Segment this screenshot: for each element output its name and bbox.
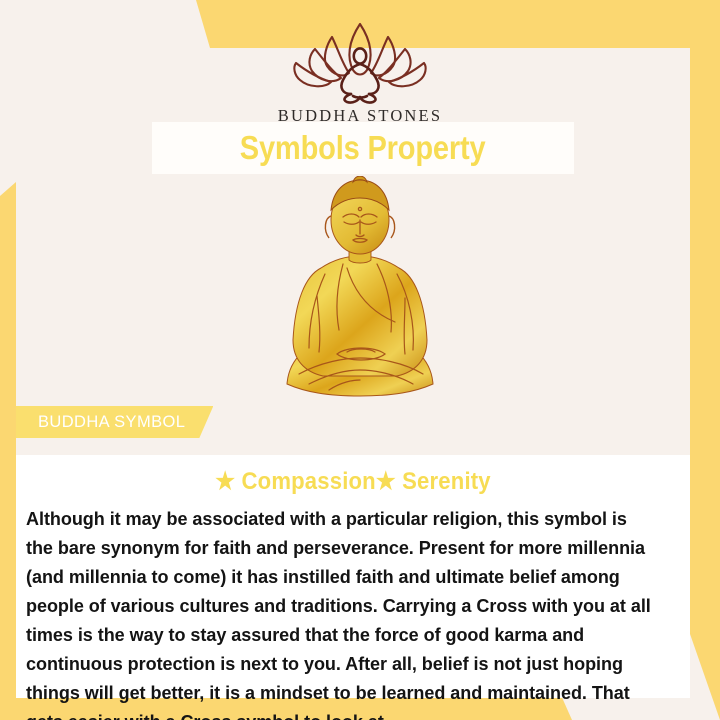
virtues-heading: ★ Compassion★ Serenity [43, 455, 663, 496]
buddha-statue-illustration [265, 176, 455, 408]
description-text: Although it may be associated with a par… [26, 504, 658, 720]
category-badge-label: BUDDHA SYMBOL [38, 413, 185, 432]
page-title: Symbols Property [240, 129, 486, 167]
hero-image [0, 176, 720, 408]
category-badge: BUDDHA SYMBOL [16, 406, 213, 438]
brand-header: BUDDHA STONES [0, 0, 720, 126]
poster-canvas: BUDDHA STONES Symbols Property [0, 0, 720, 720]
lotus-meditation-figure-icon [285, 18, 435, 104]
title-band: Symbols Property [152, 122, 574, 174]
content-card: ★ Compassion★ Serenity Although it may b… [16, 455, 690, 698]
